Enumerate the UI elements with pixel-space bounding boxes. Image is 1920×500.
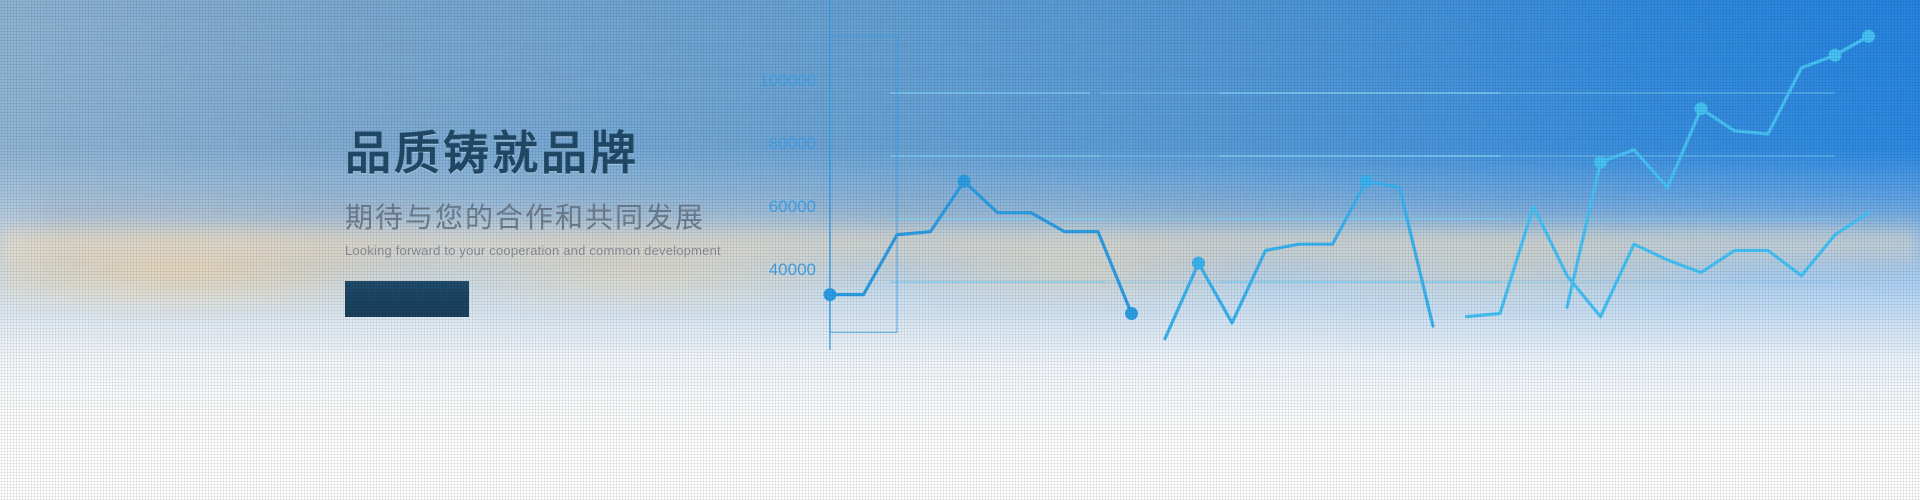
chart-series-line [830, 181, 1132, 313]
y-axis-tick-label: 100000 [760, 71, 816, 90]
hero-banner: 品质铸就品牌 期待与您的合作和共同发展 Looking forward to y… [0, 0, 1920, 500]
chart-data-point-marker [1829, 49, 1842, 62]
chart-data-point-marker [1360, 175, 1373, 188]
chart-data-point-marker [958, 175, 971, 188]
chart-series-line [1165, 181, 1433, 339]
chart-data-point-marker [1192, 257, 1205, 270]
chart-data-point-marker [1695, 102, 1708, 115]
chart-data-point-marker [1862, 30, 1875, 43]
y-axis-tick-label: 60000 [769, 197, 816, 216]
chart-highlight-rectangle [830, 36, 897, 332]
chart-series-line [1567, 36, 1869, 307]
y-axis-tick-label: 80000 [769, 134, 816, 153]
chart-data-point-marker [1125, 307, 1138, 320]
y-axis-tick-label: 40000 [769, 260, 816, 279]
line-chart: 400006000080000100000 [760, 0, 1920, 500]
chart-data-point-marker [1594, 156, 1607, 169]
chart-series-line [1467, 206, 1869, 316]
banner-cta-button[interactable] [345, 281, 469, 317]
chart-canvas: 400006000080000100000 [760, 0, 1920, 500]
chart-data-point-marker [824, 288, 837, 301]
